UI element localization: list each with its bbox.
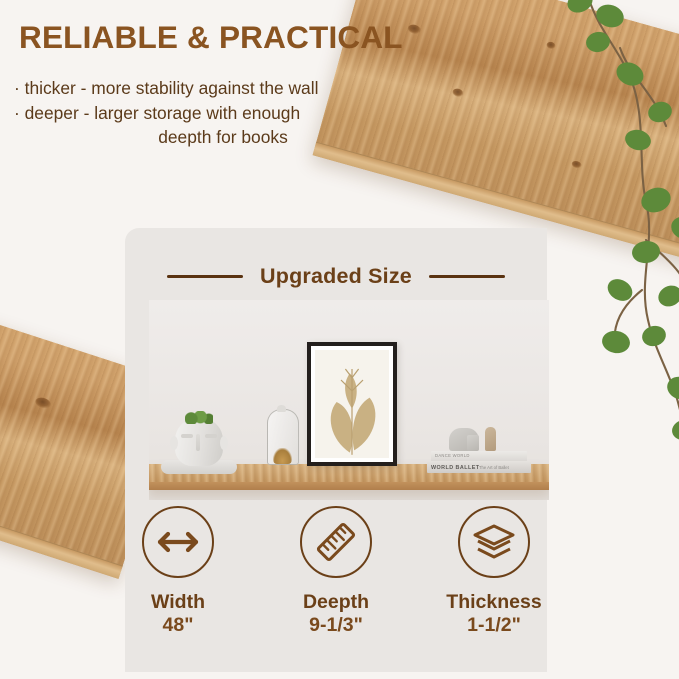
spec-thickness-label: Thickness: [442, 591, 546, 614]
spec-depth-circle: [300, 506, 372, 578]
spec-depth: Deepth 9-1/3": [284, 506, 388, 637]
feature-bullets: · thicker - more stability against the w…: [14, 76, 414, 150]
face-planter: [175, 418, 223, 466]
width-arrow-icon: [156, 529, 200, 555]
spec-width-value: 48": [126, 614, 230, 637]
planter-eye-right: [205, 434, 217, 438]
spec-width: Width 48": [126, 506, 230, 637]
layers-stack-icon: [472, 523, 516, 561]
shelf-photo: DANCE WORLD WORLD BALLET The Art of Ball…: [149, 300, 549, 500]
succulent-plants: [185, 411, 213, 424]
cloche-dried-flowers: [273, 448, 292, 464]
spec-width-circle: [142, 506, 214, 578]
feature-bullet-deeper-continued: deepth for books: [14, 125, 414, 150]
spec-row: Width 48": [125, 506, 547, 637]
title-rule-right: [429, 275, 505, 278]
planter-nose: [196, 434, 200, 451]
planter-eye-left: [181, 434, 193, 438]
feature-bullet-deeper: · deeper - larger storage with enough: [14, 101, 414, 126]
spec-width-label: Width: [126, 591, 230, 614]
ruler-icon: [314, 520, 358, 564]
section-title-text: Upgraded Size: [260, 264, 412, 289]
book-title: WORLD BALLET: [431, 465, 480, 471]
page-title: RELIABLE & PRACTICAL: [19, 21, 449, 54]
spec-thickness: Thickness 1-1/2": [442, 506, 546, 637]
book-top-title: DANCE WORLD: [435, 453, 470, 458]
product-infographic: RELIABLE & PRACTICAL · thicker - more st…: [0, 0, 679, 679]
section-title: Upgraded Size: [125, 264, 547, 289]
feature-bullet-thicker: · thicker - more stability against the w…: [14, 76, 414, 101]
book-subtitle: The Art of Ballet: [479, 465, 509, 470]
leaf-artwork: [319, 358, 385, 457]
framed-botanical-art: [307, 342, 397, 466]
title-rule-left: [167, 275, 243, 278]
shelf-front-edge: [149, 482, 549, 490]
decor-object-figurine: [485, 427, 496, 451]
decor-object-block: [467, 435, 479, 451]
cloche-knob: [277, 405, 286, 412]
spec-thickness-circle: [458, 506, 530, 578]
spec-thickness-value: 1-1/2": [442, 614, 546, 637]
spec-depth-label: Deepth: [284, 591, 388, 614]
upgraded-size-panel: Upgraded Size: [125, 228, 547, 672]
spec-depth-value: 9-1/3": [284, 614, 388, 637]
planter-ear-left: [170, 436, 178, 450]
planter-ear-right: [220, 436, 228, 450]
